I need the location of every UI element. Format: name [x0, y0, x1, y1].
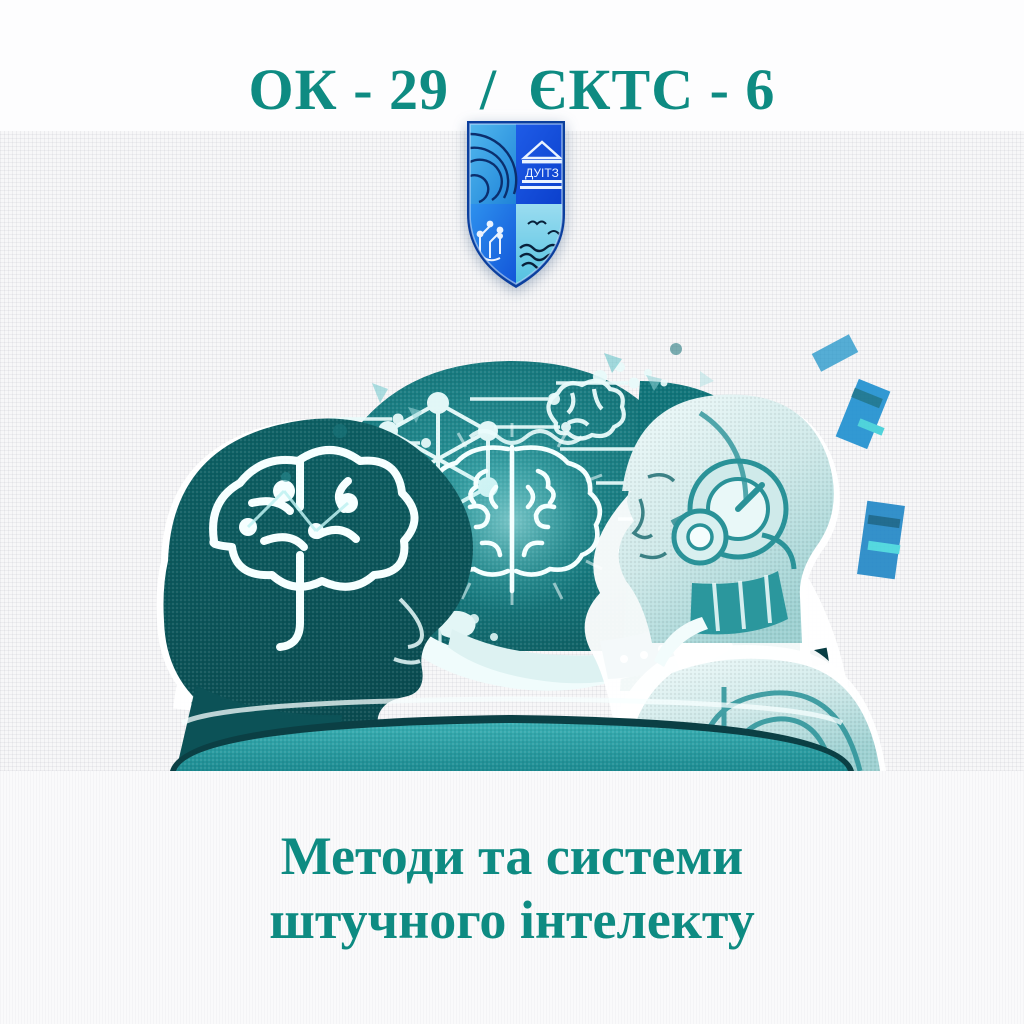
course-title-line-1: Методи та системи: [0, 824, 1024, 888]
page-title: ОК - 29 / ЄКТС - 6: [0, 56, 1024, 123]
course-title: Методи та системи штучного інтелекту: [0, 824, 1024, 952]
crest-quadrant-sea: [516, 204, 568, 290]
course-poster: ОК - 29 / ЄКТС - 6: [0, 0, 1024, 1024]
crest-abbreviation: ДУІТЗ: [525, 166, 559, 180]
university-crest[interactable]: ДУІТЗ: [464, 118, 568, 290]
course-title-line-2: штучного інтелекту: [0, 888, 1024, 952]
